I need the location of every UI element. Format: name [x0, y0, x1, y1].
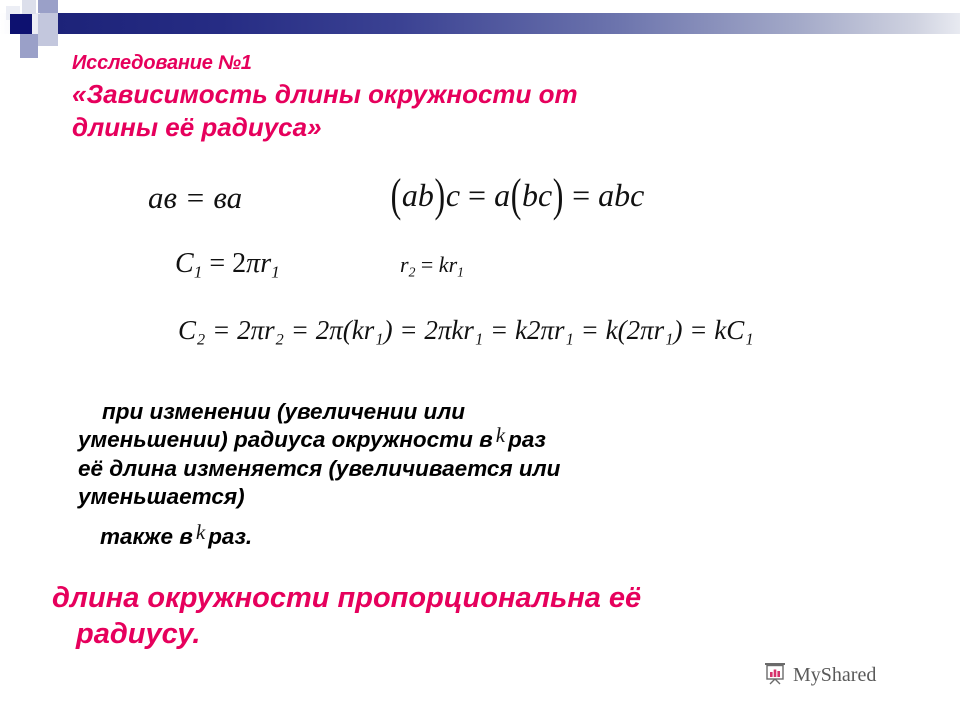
watermark: MyShared — [762, 660, 876, 691]
formula-circumference-2: C₂ = 2πr₂ = 2π(kr₁) = 2πkr₁ = k2πr₁ = k(… — [178, 315, 754, 346]
body-line-1: при изменении (увеличении или — [102, 399, 465, 424]
formula-c1-pi: π — [246, 248, 260, 279]
page-title-line1: «Зависимость длины окружности от — [72, 79, 578, 109]
formula-c2-text: C₂ = 2πr₂ = 2π(kr₁) = 2πkr₁ = k2πr₁ = k(… — [178, 315, 754, 345]
paren-close-1: ) — [435, 169, 446, 223]
formula-r2-r1: r — [449, 252, 458, 277]
deco-square-navy — [10, 14, 32, 34]
formula-c1-r: r — [260, 248, 271, 279]
body-paragraph: при изменении (увеличении или уменьшении… — [78, 398, 778, 511]
deco-square-7 — [38, 34, 58, 46]
formula-c1-r-sub: 1 — [271, 263, 280, 282]
formula-assoc-bc: bc — [522, 177, 552, 213]
formula-r2-sub: 2 — [409, 264, 416, 279]
formula-c1-eq: = — [209, 248, 225, 279]
watermark-label: MyShared — [793, 664, 876, 687]
deco-square-2 — [22, 0, 36, 14]
header-gradient-bar — [58, 13, 960, 34]
formula-commutative: ав = ва — [148, 180, 242, 216]
formula-c1-sub: 1 — [194, 263, 203, 282]
formula-r2-eq: = — [421, 252, 433, 277]
body-line-2a: уменьшении) радиуса окружности в — [78, 427, 493, 452]
formula-c1-C: C — [175, 248, 194, 279]
body-line-2b: раз — [508, 427, 546, 452]
formula-associative: (ab)c = a(bc) = abc — [390, 177, 644, 214]
formula-c1-two: 2 — [232, 248, 246, 279]
formula-assoc-c: c — [446, 177, 460, 213]
formula-assoc-a: a — [494, 177, 510, 213]
also-prefix: также в — [100, 524, 193, 549]
formula-assoc-eq-2: = — [572, 177, 590, 213]
formula-assoc-abc: abc — [598, 177, 644, 213]
paren-open-1: ( — [391, 169, 402, 223]
also-suffix: раз. — [208, 524, 252, 549]
formula-circumference-1: C1 = 2πr1 — [175, 248, 280, 283]
formula-commutative-text: ав = ва — [148, 180, 242, 215]
header-decoration — [0, 0, 960, 58]
inline-k-symbol: k — [493, 423, 508, 447]
formula-r2-k: k — [439, 252, 449, 277]
paren-close-2: ) — [553, 169, 564, 223]
conclusion-statement: длина окружности пропорциональна её ради… — [52, 580, 932, 653]
deco-square-6 — [20, 34, 38, 46]
formula-assoc-eq-1: = — [468, 177, 486, 213]
formula-r2-r: r — [400, 252, 409, 277]
deco-square-8 — [20, 46, 38, 58]
also-k-symbol: k — [193, 520, 208, 544]
deco-square-5 — [38, 14, 58, 34]
slide-subtitle: Исследование №1 — [72, 52, 720, 75]
presentation-chart-icon — [762, 660, 788, 691]
formula-r2-r1-sub: 1 — [457, 264, 464, 279]
title-block: Исследование №1 «Зависимость длины окруж… — [60, 52, 720, 145]
page-title-line2: длины её радиуса» — [72, 112, 322, 142]
body-line-3: её длина изменяется (увеличивается или — [78, 456, 560, 481]
formula-radius-2: r2 = kr1 — [400, 252, 464, 280]
formula-assoc-ab: ab — [402, 177, 434, 213]
also-line: также вkраз. — [100, 524, 252, 550]
conclusion-line-2: радиусу. — [76, 616, 932, 652]
paren-open-2: ( — [511, 169, 522, 223]
deco-square-4 — [38, 0, 58, 13]
page-title: «Зависимость длины окружности от длины е… — [72, 78, 720, 145]
conclusion-line-1: длина окружности пропорциональна её — [52, 582, 641, 614]
body-line-4: уменьшается) — [78, 484, 245, 509]
presentation-slide: Исследование №1 «Зависимость длины окруж… — [0, 0, 960, 720]
